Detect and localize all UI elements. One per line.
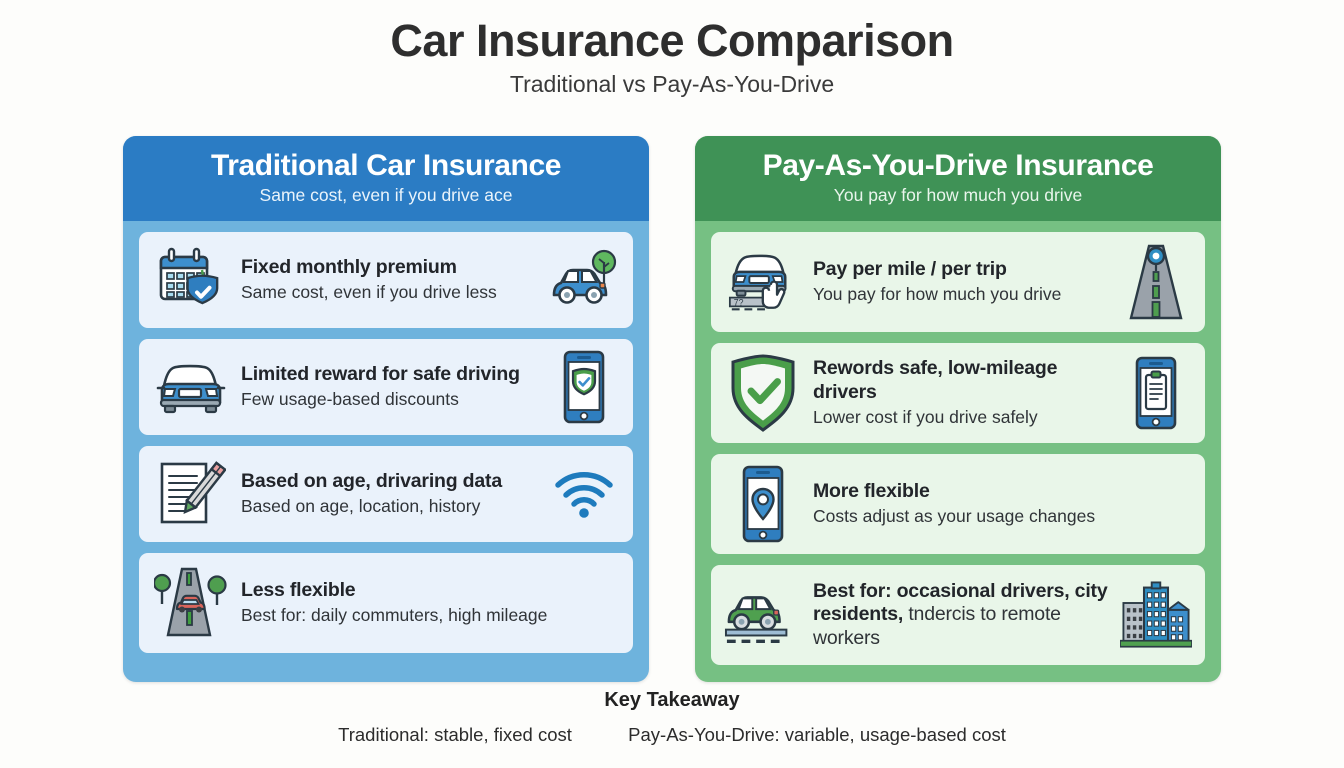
list-item-title: Based on age, drivaring data xyxy=(241,470,537,493)
list-item-text: Best for: occasional drivers, city resid… xyxy=(813,580,1109,650)
list-item-desc: Costs adjust as your usage changes xyxy=(813,506,1192,528)
panel-payasyoudrive-title: Pay-As-You-Drive Insurance xyxy=(705,149,1211,182)
shield-check-icon xyxy=(724,353,802,433)
footer-left-text: Traditional: stable, fixed cost xyxy=(338,724,572,746)
panel-payasyoudrive-body: 7? Pay per mile / per trip You pay for h… xyxy=(695,221,1221,682)
page-subtitle: Traditional vs Pay-As-You-Drive xyxy=(0,71,1344,98)
list-item-title: Less flexible xyxy=(241,579,620,602)
phone-location-icon xyxy=(724,464,802,544)
car-cursor-icon: 7? xyxy=(724,247,802,317)
list-item[interactable]: Limited reward for safe driving Few usag… xyxy=(139,339,633,435)
list-item[interactable]: Fixed monthly premium Same cost, even if… xyxy=(139,232,633,328)
list-item-text: More flexible Costs adjust as your usage… xyxy=(813,480,1192,528)
list-item-desc: You pay for how much you drive xyxy=(813,284,1109,306)
list-item-title: More flexible xyxy=(813,480,1192,503)
road-trees-car-icon xyxy=(152,563,230,643)
list-item-text: Less flexible Best for: daily commuters,… xyxy=(241,579,620,627)
city-buildings-icon xyxy=(1120,575,1192,655)
panel-traditional: Traditional Car Insurance Same cost, eve… xyxy=(123,136,649,682)
key-takeaway-footer: Key Takeaway Traditional: stable, fixed … xyxy=(0,689,1344,746)
panel-traditional-title: Traditional Car Insurance xyxy=(133,149,639,182)
list-item[interactable]: 7? Pay per mile / per trip You pay for h… xyxy=(711,232,1205,332)
footer-title: Key Takeaway xyxy=(0,689,1344,712)
list-item-desc: Few usage-based discounts xyxy=(241,389,537,411)
panel-payasyoudrive: Pay-As-You-Drive Insurance You pay for h… xyxy=(695,136,1221,682)
panel-payasyoudrive-header: Pay-As-You-Drive Insurance You pay for h… xyxy=(695,136,1221,221)
list-item[interactable]: Less flexible Best for: daily commuters,… xyxy=(139,553,633,653)
road-signal-icon xyxy=(1120,242,1192,322)
page-header: Car Insurance Comparison Traditional vs … xyxy=(0,0,1344,98)
svg-text:7?: 7? xyxy=(734,297,744,307)
list-item-desc: Same cost, even if you drive less xyxy=(241,282,537,304)
green-car-road-icon xyxy=(724,582,802,648)
list-item[interactable]: Best for: occasional drivers, city resid… xyxy=(711,565,1205,665)
list-item-text: Based on age, drivaring data Based on ag… xyxy=(241,470,537,518)
panel-traditional-subtitle: Same cost, even if you drive ace xyxy=(133,185,639,206)
car-tree-icon xyxy=(548,249,620,311)
wifi-icon xyxy=(548,468,620,520)
list-item-title: Pay per mile / per trip xyxy=(813,258,1109,281)
footer-lines: Traditional: stable, fixed cost Pay-As-Y… xyxy=(0,724,1344,746)
list-item-text: Fixed monthly premium Same cost, even if… xyxy=(241,256,537,304)
comparison-columns: Traditional Car Insurance Same cost, eve… xyxy=(0,136,1344,682)
list-item-title: Rewords safe, low-mileage drivers xyxy=(813,357,1109,404)
infographic-page: Car Insurance Comparison Traditional vs … xyxy=(0,0,1344,768)
list-item-text: Limited reward for safe driving Few usag… xyxy=(241,363,537,411)
list-item-title: Best for: occasional drivers, city resid… xyxy=(813,580,1109,650)
list-item[interactable]: More flexible Costs adjust as your usage… xyxy=(711,454,1205,554)
list-item-text: Rewords safe, low-mileage drivers Lower … xyxy=(813,357,1109,429)
panel-traditional-header: Traditional Car Insurance Same cost, eve… xyxy=(123,136,649,221)
list-item[interactable]: Based on age, drivaring data Based on ag… xyxy=(139,446,633,542)
list-item-text: Pay per mile / per trip You pay for how … xyxy=(813,258,1109,306)
list-item-desc: Lower cost if you drive safely xyxy=(813,407,1109,429)
calendar-shield-icon xyxy=(152,245,230,315)
list-item-desc: Best for: daily commuters, high mileage xyxy=(241,605,620,627)
list-item[interactable]: Rewords safe, low-mileage drivers Lower … xyxy=(711,343,1205,443)
phone-clipboard-icon xyxy=(1120,355,1192,431)
list-item-desc: Based on age, location, history xyxy=(241,496,537,518)
list-item-title: Fixed monthly premium xyxy=(241,256,537,279)
page-title: Car Insurance Comparison xyxy=(0,16,1344,66)
footer-right-text: Pay-As-You-Drive: variable, usage-based … xyxy=(628,724,1006,746)
list-item-title: Limited reward for safe driving xyxy=(241,363,537,386)
document-pencil-icon xyxy=(152,458,230,530)
phone-shield-icon xyxy=(548,349,620,425)
panel-payasyoudrive-subtitle: You pay for how much you drive xyxy=(705,185,1211,206)
panel-traditional-body: Fixed monthly premium Same cost, even if… xyxy=(123,221,649,682)
car-front-icon xyxy=(152,356,230,418)
